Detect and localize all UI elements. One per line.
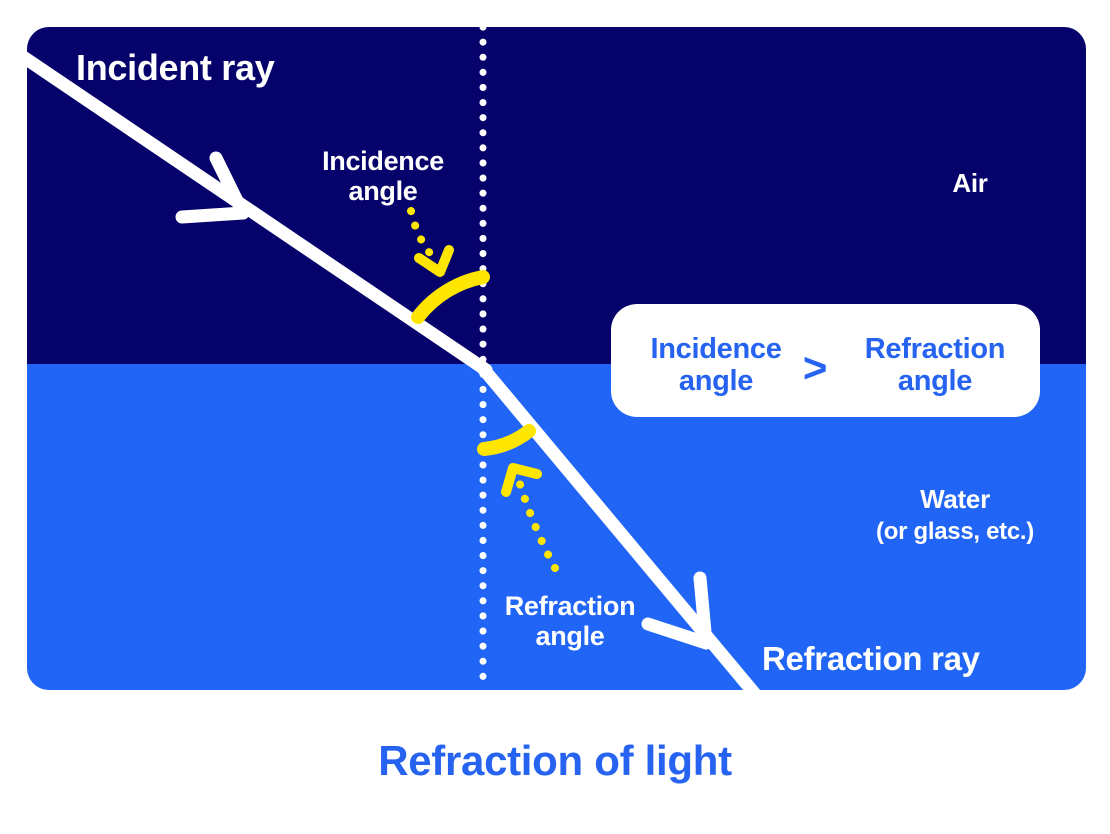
comparison-right-line2: angle [898, 365, 972, 397]
comparison-left-line2: angle [679, 365, 753, 397]
incidence-angle-label-line1: Incidence [322, 146, 444, 176]
comparison-operator: > [803, 344, 827, 391]
incidence-angle-label-line2: angle [348, 176, 417, 206]
refraction-angle-label-line1: Refraction [505, 591, 636, 621]
refraction-ray-arrowhead-upper [700, 578, 706, 643]
figure-title: Refraction of light [378, 737, 732, 784]
water-label-line2: (or glass, etc.) [876, 518, 1034, 545]
figure-root: Incident ray Air Water (or glass, etc.) … [0, 0, 1110, 834]
incident-ray-arrowhead-lower [182, 213, 243, 217]
comparison-right-line1: Refraction [865, 333, 1005, 365]
refraction-diagram: Incident ray Air Water (or glass, etc.) … [0, 0, 1110, 834]
water-label-line1: Water [920, 484, 990, 514]
refraction-angle-label-line2: angle [535, 621, 604, 651]
refraction-ray-label: Refraction ray [762, 640, 981, 677]
incident-ray-label: Incident ray [76, 47, 275, 88]
comparison-left-line1: Incidence [650, 333, 781, 365]
air-label: Air [952, 168, 987, 198]
